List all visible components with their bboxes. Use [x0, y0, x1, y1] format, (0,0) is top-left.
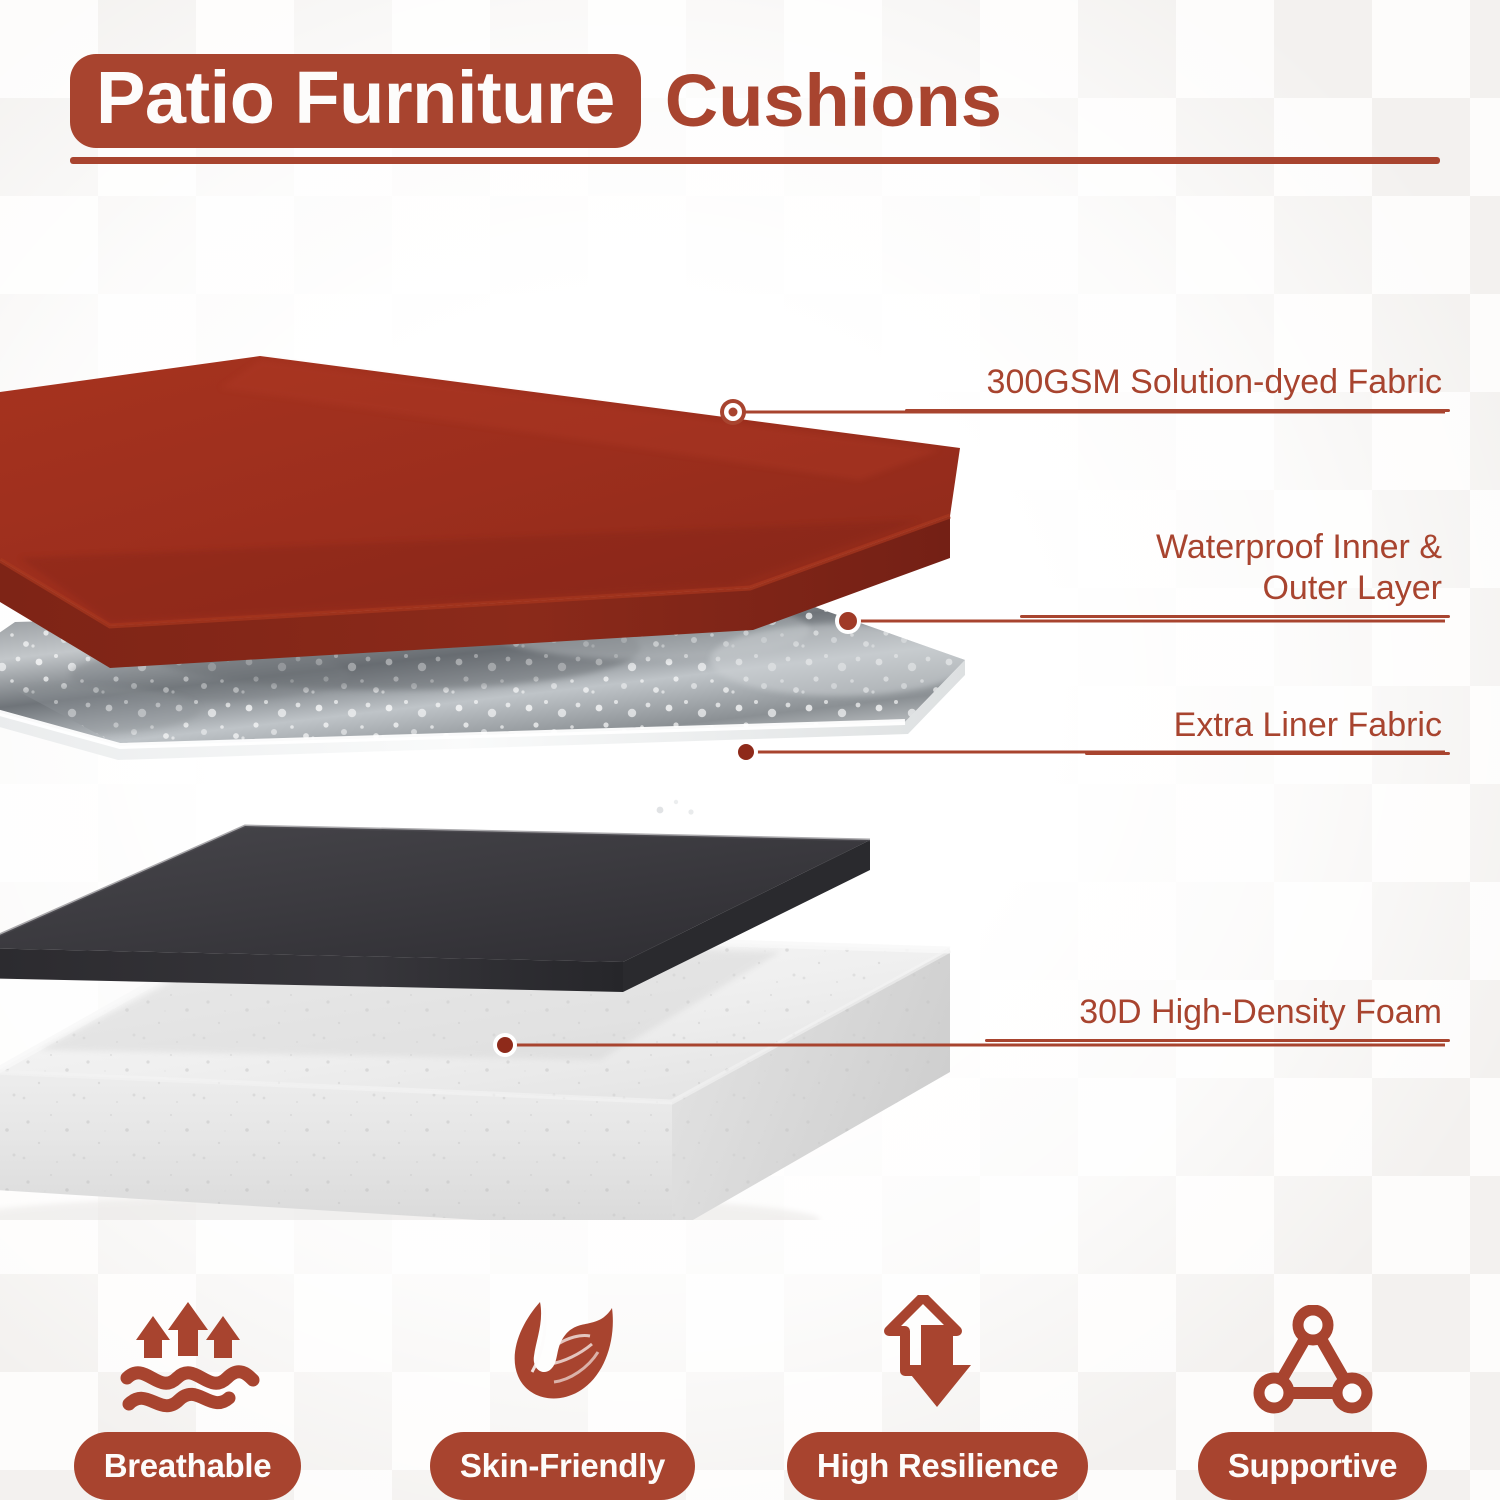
feature-high-resilience-badge[interactable]: High Resilience: [787, 1432, 1088, 1500]
callout-liner: Extra Liner Fabric: [1085, 705, 1450, 755]
title-tail-text: Cushions: [641, 64, 1002, 138]
triangle-nodes-icon: [1248, 1295, 1378, 1420]
callout-liner-label: Extra Liner Fabric: [1085, 705, 1450, 752]
feature-skin-friendly-badge[interactable]: Skin-Friendly: [430, 1432, 695, 1500]
feature-badge-row: Breathable Skin-Friendly: [0, 1255, 1500, 1500]
callout-foam-rule: [985, 1039, 1450, 1042]
callout-fabric-label: 300GSM Solution-dyed Fabric: [905, 362, 1450, 409]
title-highlight-text: Patio Furniture: [96, 61, 615, 135]
layer-stack-illustration: [0, 330, 1020, 1220]
callout-fabric: 300GSM Solution-dyed Fabric: [905, 362, 1450, 412]
feather-icon: [488, 1295, 638, 1420]
feature-supportive-badge[interactable]: Supportive: [1198, 1432, 1427, 1500]
page-title: Patio Furniture Cushions: [70, 52, 1002, 150]
callout-waterproof: Waterproof Inner & Outer Layer: [1020, 527, 1450, 618]
exploded-layer-stack: [0, 330, 1020, 1220]
feature-skin-friendly-label: Skin-Friendly: [460, 1447, 665, 1485]
callout-foam-label: 30D High-Density Foam: [985, 992, 1450, 1039]
callout-waterproof-label: Waterproof Inner & Outer Layer: [1020, 527, 1450, 615]
feature-high-resilience: High Resilience: [750, 1255, 1125, 1500]
feature-breathable: Breathable: [0, 1255, 375, 1500]
callout-liner-rule: [1085, 752, 1450, 755]
feature-breathable-label: Breathable: [104, 1447, 272, 1485]
feature-high-resilience-label: High Resilience: [817, 1447, 1058, 1485]
up-down-arrows-icon: [863, 1295, 1013, 1420]
feature-supportive-label: Supportive: [1228, 1447, 1397, 1485]
callout-waterproof-rule: [1020, 615, 1450, 618]
title-underline-rule: [70, 157, 1440, 164]
breathable-airflow-icon: [113, 1295, 263, 1420]
feature-supportive: Supportive: [1125, 1255, 1500, 1500]
page-header: Patio Furniture Cushions: [0, 52, 1500, 172]
callout-fabric-rule: [905, 409, 1450, 412]
feature-breathable-badge[interactable]: Breathable: [74, 1432, 302, 1500]
callout-foam: 30D High-Density Foam: [985, 992, 1450, 1042]
feature-skin-friendly: Skin-Friendly: [375, 1255, 750, 1500]
title-highlight-chip: Patio Furniture: [70, 54, 641, 148]
